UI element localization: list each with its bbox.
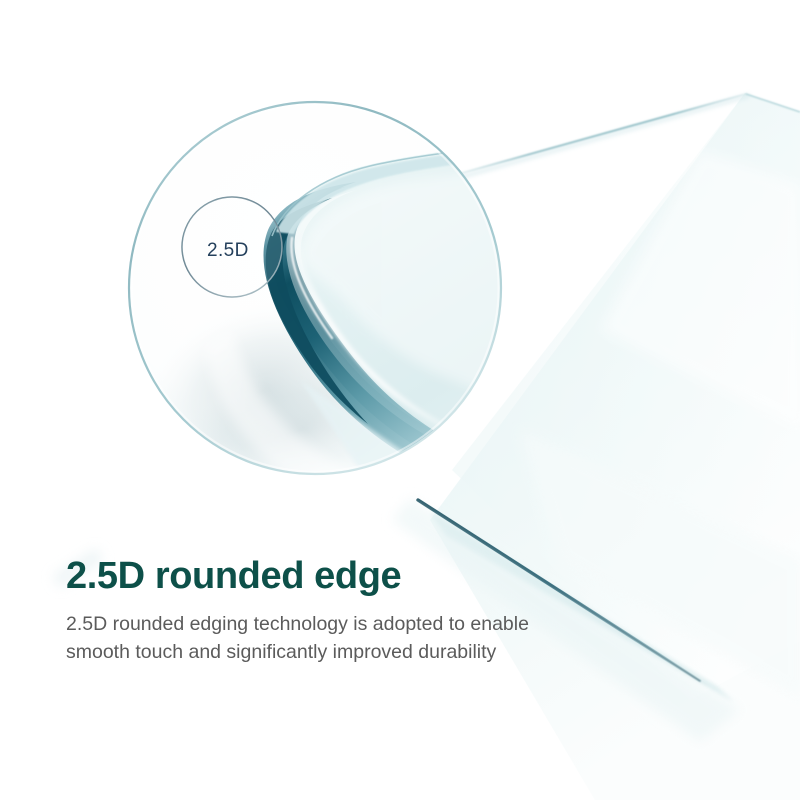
- caption-body-line-2: smooth touch and significantly improved …: [66, 639, 586, 667]
- caption-body: 2.5D rounded edging technology is adopte…: [66, 611, 586, 666]
- callout-label: 2.5D: [207, 240, 249, 261]
- callout-circle: 2.5D: [182, 197, 282, 297]
- product-feature-slide: 2.5D 2.5D rounded edge 2.5D rounded edgi…: [0, 0, 800, 800]
- glass-edge-illustration: 2.5D: [0, 0, 800, 800]
- page-title: 2.5D rounded edge: [66, 556, 706, 597]
- caption-block: 2.5D rounded edge 2.5D rounded edging te…: [66, 556, 706, 666]
- caption-body-line-1: 2.5D rounded edging technology is adopte…: [66, 611, 586, 639]
